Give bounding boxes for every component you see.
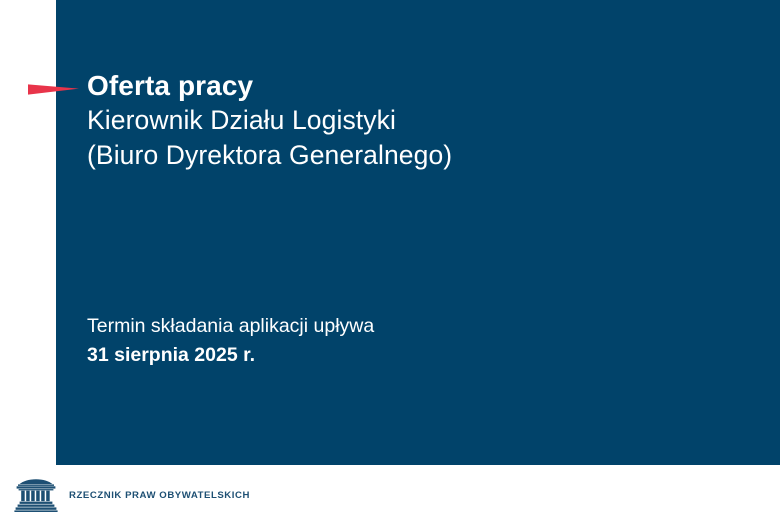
page-title-position: Kierownik Działu Logistyki (87, 103, 707, 138)
organization-wordmark: RZECZNIK PRAW OBYWATELSKICH (69, 490, 250, 501)
red-accent-wedge-icon (28, 82, 79, 97)
footer-logo-lockup: RZECZNIK PRAW OBYWATELSKICH (14, 477, 250, 513)
deadline-date-text: 31 sierpnia 2025 r. (87, 341, 647, 370)
deadline-block: Termin składania aplikacji upływa 31 sie… (87, 312, 647, 370)
job-offer-poster: Oferta pracy Kierownik Działu Logistyki … (0, 0, 780, 520)
page-title-lead: Oferta pracy (87, 69, 707, 103)
page-title-department: (Biuro Dyrektora Generalnego) (87, 138, 707, 173)
deadline-intro-text: Termin składania aplikacji upływa (87, 312, 647, 341)
classical-temple-icon (14, 478, 58, 513)
title-block: Oferta pracy Kierownik Działu Logistyki … (87, 69, 707, 173)
